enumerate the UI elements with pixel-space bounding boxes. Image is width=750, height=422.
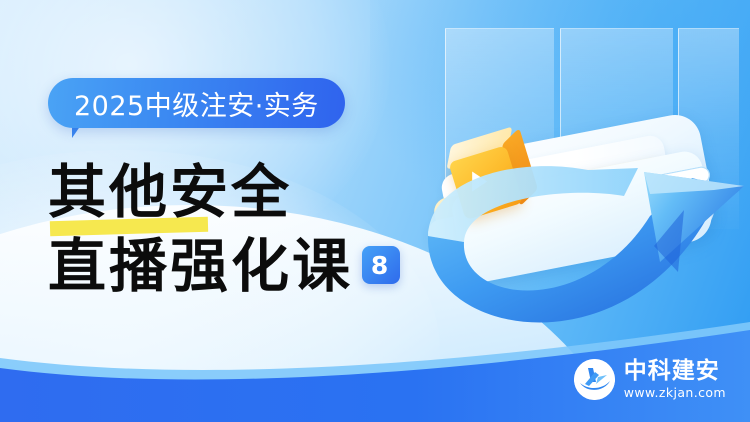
course-poster: 2025中级注安·实务 其他安全 直播强化课 8 中科建安 www.zkjan.… <box>0 0 750 422</box>
headline-block: 其他安全 直播强化课 8 <box>48 155 468 303</box>
category-badge: 2025中级注安·实务 <box>48 78 345 128</box>
category-badge-label: 2025中级注安·实务 <box>74 84 319 123</box>
headline-line-1: 其他安全 <box>48 155 468 229</box>
episode-number-badge: 8 <box>362 246 400 284</box>
brand-mark-icon <box>574 359 615 400</box>
headline-line-1-text: 其他安全 <box>48 158 292 226</box>
brand-logo-lockup: 中科建安 www.zkjan.com <box>574 358 726 400</box>
brand-url: www.zkjan.com <box>624 385 726 400</box>
headline-line-2-text: 直播强化课 <box>48 229 353 303</box>
brand-text-block: 中科建安 www.zkjan.com <box>624 358 726 400</box>
brand-name: 中科建安 <box>624 358 726 383</box>
headline-line-2: 直播强化课 8 <box>48 229 468 303</box>
